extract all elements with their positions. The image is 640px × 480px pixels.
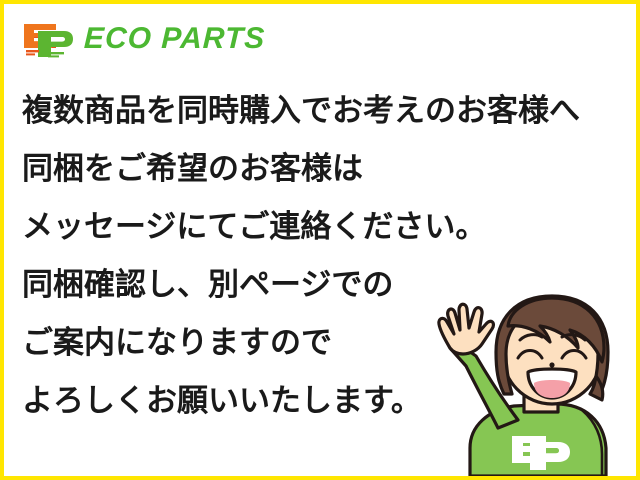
waving-woman-mascot-illustration (406, 280, 634, 476)
brand-wordmark: ECO PARTS (83, 24, 265, 54)
eco-parts-monogram-icon (18, 17, 76, 61)
promo-banner: ECO PARTS 複数商品を同時購入でお考えのお客様へ 同梱をご希望のお客様は… (0, 0, 640, 480)
message-line-2: 同梱をご希望のお客様は (22, 140, 626, 198)
message-line-1: 複数商品を同時購入でお考えのお客様へ (22, 82, 626, 140)
message-line-3: メッセージにてご連絡ください。 (22, 198, 626, 256)
brand-header: ECO PARTS (18, 16, 265, 62)
